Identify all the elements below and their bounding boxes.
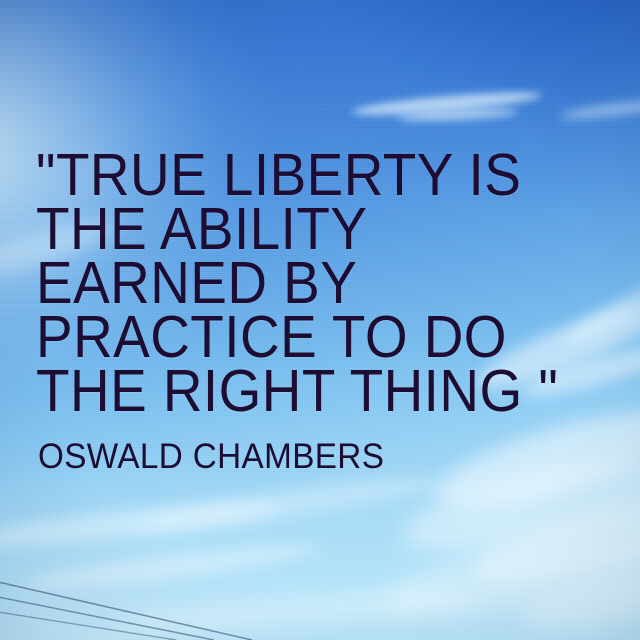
quote-line-4: PRACTICE TO DO bbox=[36, 310, 575, 364]
quote-line-1: "TRUE LIBERTY IS bbox=[36, 148, 575, 202]
quote-line-5: THE RIGHT THING " bbox=[36, 364, 575, 418]
quote-line-2: THE ABILITY bbox=[36, 202, 575, 256]
quote-author: OSWALD CHAMBERS bbox=[38, 437, 384, 477]
quote-text-block: "TRUE LIBERTY IS THE ABILITY EARNED BY P… bbox=[36, 148, 616, 418]
quote-image: "TRUE LIBERTY IS THE ABILITY EARNED BY P… bbox=[0, 0, 640, 640]
quote-line-3: EARNED BY bbox=[36, 256, 575, 310]
